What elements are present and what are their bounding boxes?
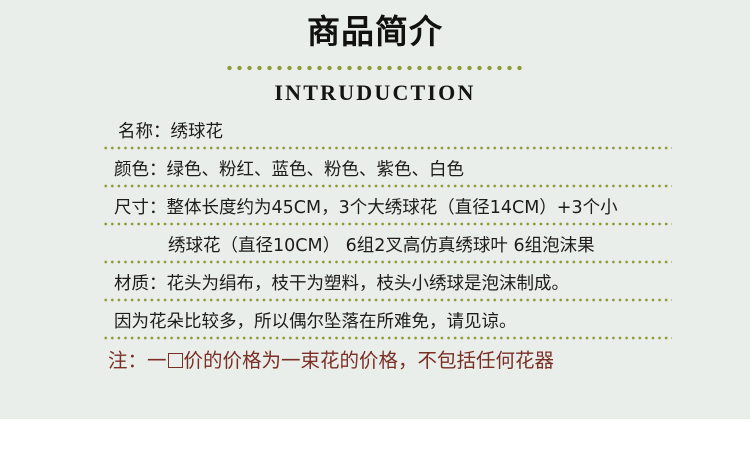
spec-row-text: 因为花朵比较多，所以偶尔坠落在所难免，请见谅。	[0, 306, 750, 338]
spec-row: 绣球花（直径10CM） 6组2叉高仿真绣球叶 6组泡沫果	[0, 230, 750, 268]
page-title: 商品简介	[0, 10, 750, 54]
spec-row-text: 颜色：绿色、粉红、蓝色、粉色、紫色、白色	[0, 154, 750, 186]
missing-glyph-box-icon	[168, 353, 183, 368]
price-note-row: 注：一价的价格为一束花的价格，不包括任何花器	[0, 344, 750, 386]
row-dotted-rule	[104, 297, 672, 303]
spec-row-text: 材质：花头为绢布，枝干为塑料，枝头小绣球是泡沫制成。	[0, 268, 750, 300]
spec-row: 因为花朵比较多，所以偶尔坠落在所难免，请见谅。	[0, 306, 750, 344]
spec-row-text: 尺寸：整体长度约为45CM，3个大绣球花（直径14CM）+3个小	[0, 192, 750, 224]
row-dotted-rule	[104, 183, 672, 189]
header-dotted-divider	[227, 63, 523, 73]
spec-row: 尺寸：整体长度约为45CM，3个大绣球花（直径14CM）+3个小	[0, 192, 750, 230]
spec-list: 名称：绣球花 颜色：绿色、粉红、蓝色、粉色、紫色、白色 尺寸：整体长度约为45C…	[0, 116, 750, 386]
price-note-prefix: 注：一	[108, 349, 167, 372]
spec-row: 颜色：绿色、粉红、蓝色、粉色、紫色、白色	[0, 154, 750, 192]
row-dotted-rule	[104, 259, 672, 265]
spec-row: 名称：绣球花	[0, 116, 750, 154]
row-dotted-rule	[104, 335, 672, 341]
product-intro-panel: 商品简介 INTRUDUCTION 名称：绣球花 颜色：绿色、粉红、蓝色、粉色、…	[0, 0, 750, 419]
price-note-suffix: 价的价格为一束花的价格，不包括任何花器	[184, 349, 555, 372]
intro-header: 商品简介 INTRUDUCTION	[0, 0, 750, 108]
row-dotted-rule	[104, 145, 672, 151]
row-dotted-rule	[104, 221, 672, 227]
page-subtitle: INTRUDUCTION	[0, 78, 750, 108]
spec-row-text: 名称：绣球花	[0, 116, 750, 148]
price-note: 注：一价的价格为一束花的价格，不包括任何花器	[0, 344, 750, 378]
spec-row: 材质：花头为绢布，枝干为塑料，枝头小绣球是泡沫制成。	[0, 268, 750, 306]
spec-row-text: 绣球花（直径10CM） 6组2叉高仿真绣球叶 6组泡沫果	[0, 230, 750, 262]
